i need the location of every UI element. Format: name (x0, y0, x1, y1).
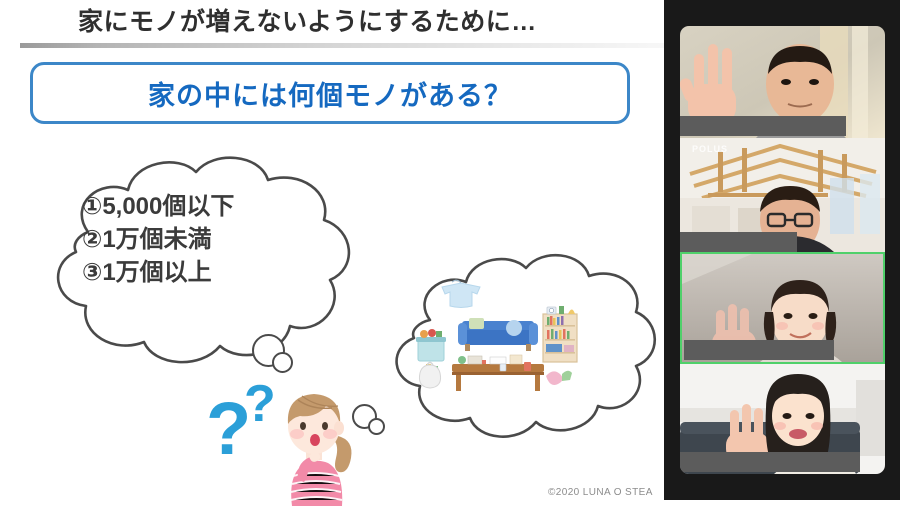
question-callout-text: 家の中には何個モノがある？ (148, 74, 512, 113)
thinking-girl-illustration (268, 384, 360, 506)
video-tile-participant-2[interactable]: POLUS (680, 138, 885, 252)
thought-bubble-room-trail-small (368, 418, 385, 435)
participant-3-name-redacted (684, 340, 834, 360)
title-divider (20, 43, 664, 48)
video-tile-participant-4[interactable] (680, 364, 885, 474)
answer-options-list: ①5,000個以下 ②1万個未満 ③1万個以上 (82, 190, 332, 289)
video-conference-panel: POLUS (664, 0, 900, 500)
answer-option-2[interactable]: ②1万個未満 (82, 223, 332, 256)
question-callout-box: 家の中には何個モノがある？ (30, 62, 630, 124)
thought-bubble-trail-small (272, 352, 293, 373)
video-tile-participant-3-active-speaker[interactable] (680, 252, 885, 364)
presentation-slide: 家にモノが増えないようにするために… 家の中には何個モノがある？ ①5,000個… (0, 0, 664, 506)
video-tile-participant-1[interactable] (680, 26, 885, 138)
video-panel-bottom-edge (664, 500, 900, 506)
answer-option-1[interactable]: ①5,000個以下 (82, 190, 332, 223)
svg-text:POLUS: POLUS (692, 144, 728, 154)
participant-1-name-redacted (680, 116, 846, 136)
participant-2-name-redacted (680, 232, 797, 252)
answer-option-3[interactable]: ③1万個以上 (82, 256, 332, 289)
participant-4-name-redacted (680, 452, 860, 472)
cluttered-living-room-illustration (412, 278, 602, 406)
slide-title: 家にモノが増えないようにするために… (78, 5, 638, 39)
screen-root: 家にモノが増えないようにするために… 家の中には何個モノがある？ ①5,000個… (0, 0, 900, 506)
copyright-notice: ©2020 LUNA O STEA (548, 487, 653, 498)
